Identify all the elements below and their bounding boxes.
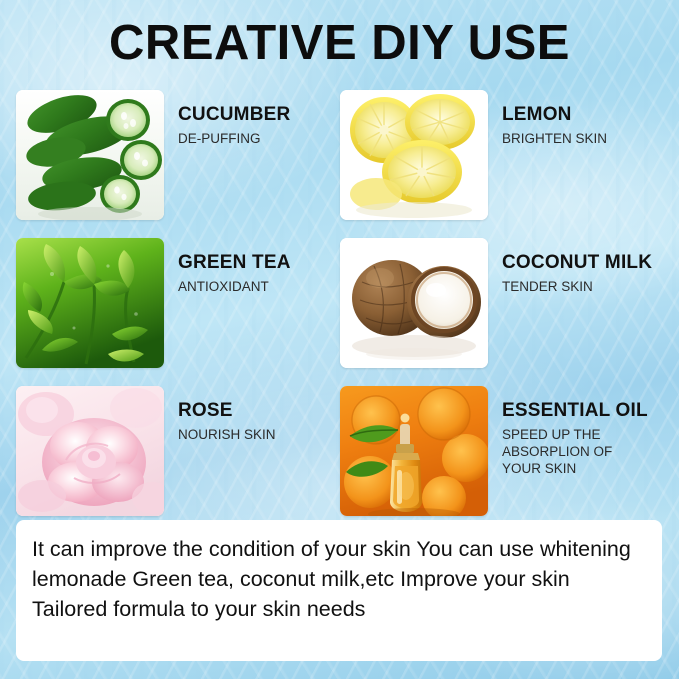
coconut-milk-caption: COCONUT MILK TENDER SKIN bbox=[488, 238, 664, 376]
ingredient-card-coconut-milk: COCONUT MILK TENDER SKIN bbox=[340, 238, 664, 376]
essential-oil-title: ESSENTIAL OIL bbox=[502, 400, 664, 422]
rose-caption: ROSE NOURISH SKIN bbox=[164, 386, 340, 524]
essential-oil-subtitle: SPEED UP THE ABSORPLION OF YOUR SKIN bbox=[502, 426, 652, 477]
essential-oil-caption: ESSENTIAL OIL SPEED UP THE ABSORPLION OF… bbox=[488, 386, 664, 524]
lemon-image bbox=[340, 90, 488, 220]
ingredient-card-rose: ROSE NOURISH SKIN bbox=[16, 386, 340, 524]
lemon-caption: LEMON BRIGHTEN SKIN bbox=[488, 90, 664, 228]
cucumber-caption: CUCUMBER DE-PUFFING bbox=[164, 90, 340, 228]
lemon-title: LEMON bbox=[502, 104, 664, 126]
ingredient-card-lemon: LEMON BRIGHTEN SKIN bbox=[340, 90, 664, 228]
rose-subtitle: NOURISH SKIN bbox=[178, 426, 328, 443]
ingredient-card-cucumber: CUCUMBER DE-PUFFING bbox=[16, 90, 340, 228]
essential-oil-image bbox=[340, 386, 488, 516]
rose-image bbox=[16, 386, 164, 516]
ingredient-card-green-tea: GREEN TEA ANTIOXIDANT bbox=[16, 238, 340, 376]
green-tea-caption: GREEN TEA ANTIOXIDANT bbox=[164, 238, 340, 376]
lemon-subtitle: BRIGHTEN SKIN bbox=[502, 130, 652, 147]
grid-row: ROSE NOURISH SKIN bbox=[16, 386, 664, 524]
coconut-milk-image bbox=[340, 238, 488, 368]
page-title: CREATIVE DIY USE bbox=[0, 14, 679, 72]
description-box: It can improve the condition of your ski… bbox=[16, 520, 662, 661]
grid-row: GREEN TEA ANTIOXIDANT bbox=[16, 238, 664, 376]
coconut-milk-title: COCONUT MILK bbox=[502, 252, 664, 274]
green-tea-subtitle: ANTIOXIDANT bbox=[178, 278, 328, 295]
cucumber-title: CUCUMBER bbox=[178, 104, 340, 126]
ingredient-card-essential-oil: ESSENTIAL OIL SPEED UP THE ABSORPLION OF… bbox=[340, 386, 664, 524]
product-infographic: CREATIVE DIY USE bbox=[0, 0, 679, 679]
green-tea-title: GREEN TEA bbox=[178, 252, 340, 274]
rose-title: ROSE bbox=[178, 400, 340, 422]
green-tea-image bbox=[16, 238, 164, 368]
ingredient-grid: CUCUMBER DE-PUFFING bbox=[16, 90, 664, 534]
cucumber-subtitle: DE-PUFFING bbox=[178, 130, 328, 147]
grid-row: CUCUMBER DE-PUFFING bbox=[16, 90, 664, 228]
coconut-milk-subtitle: TENDER SKIN bbox=[502, 278, 652, 295]
cucumber-image bbox=[16, 90, 164, 220]
